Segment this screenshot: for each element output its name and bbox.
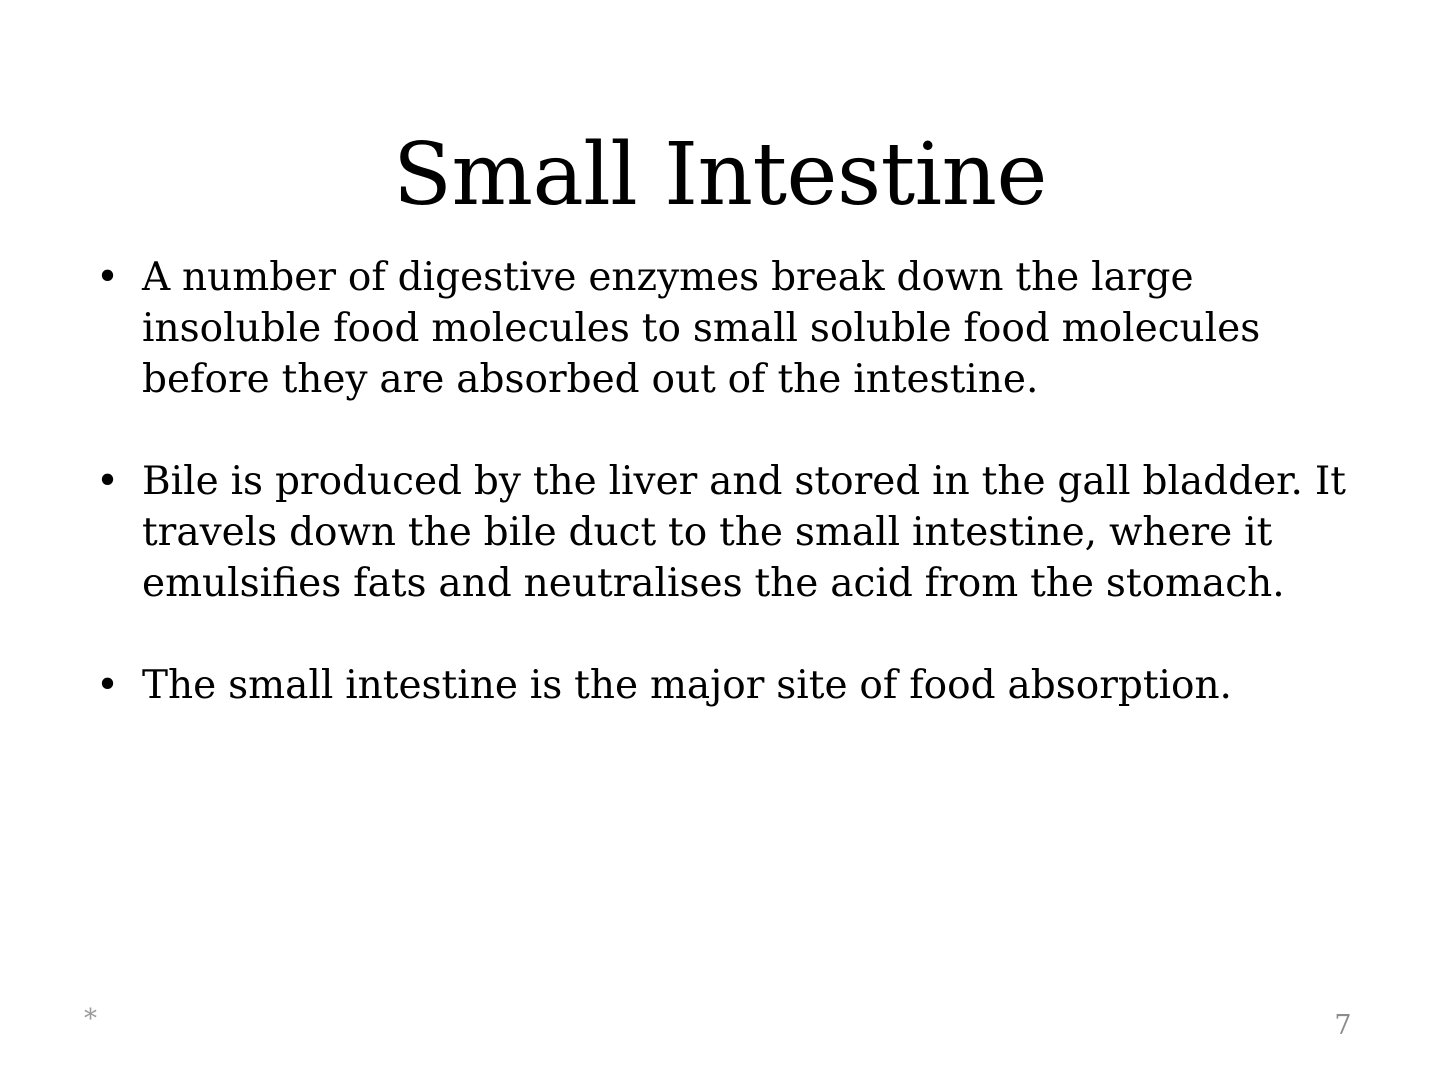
- list-item: • Bile is produced by the liver and stor…: [86, 456, 1376, 609]
- list-item-text: The small intestine is the major site of…: [142, 660, 1376, 711]
- bullet-icon: •: [96, 456, 126, 507]
- bullet-icon: •: [96, 252, 126, 303]
- footer-asterisk-icon: *: [84, 1006, 97, 1032]
- bullet-icon: •: [96, 660, 126, 711]
- list-item-text: A number of digestive enzymes break down…: [142, 252, 1376, 405]
- list-item-text: Bile is produced by the liver and stored…: [142, 456, 1376, 609]
- slide-canvas: Small Intestine • A number of digestive …: [0, 0, 1440, 1080]
- page-number: 7: [1320, 1012, 1366, 1039]
- list-item: • The small intestine is the major site …: [86, 660, 1376, 711]
- list-item: • A number of digestive enzymes break do…: [86, 252, 1376, 405]
- page-title: Small Intestine: [0, 130, 1440, 221]
- bullet-list: • A number of digestive enzymes break do…: [86, 252, 1376, 711]
